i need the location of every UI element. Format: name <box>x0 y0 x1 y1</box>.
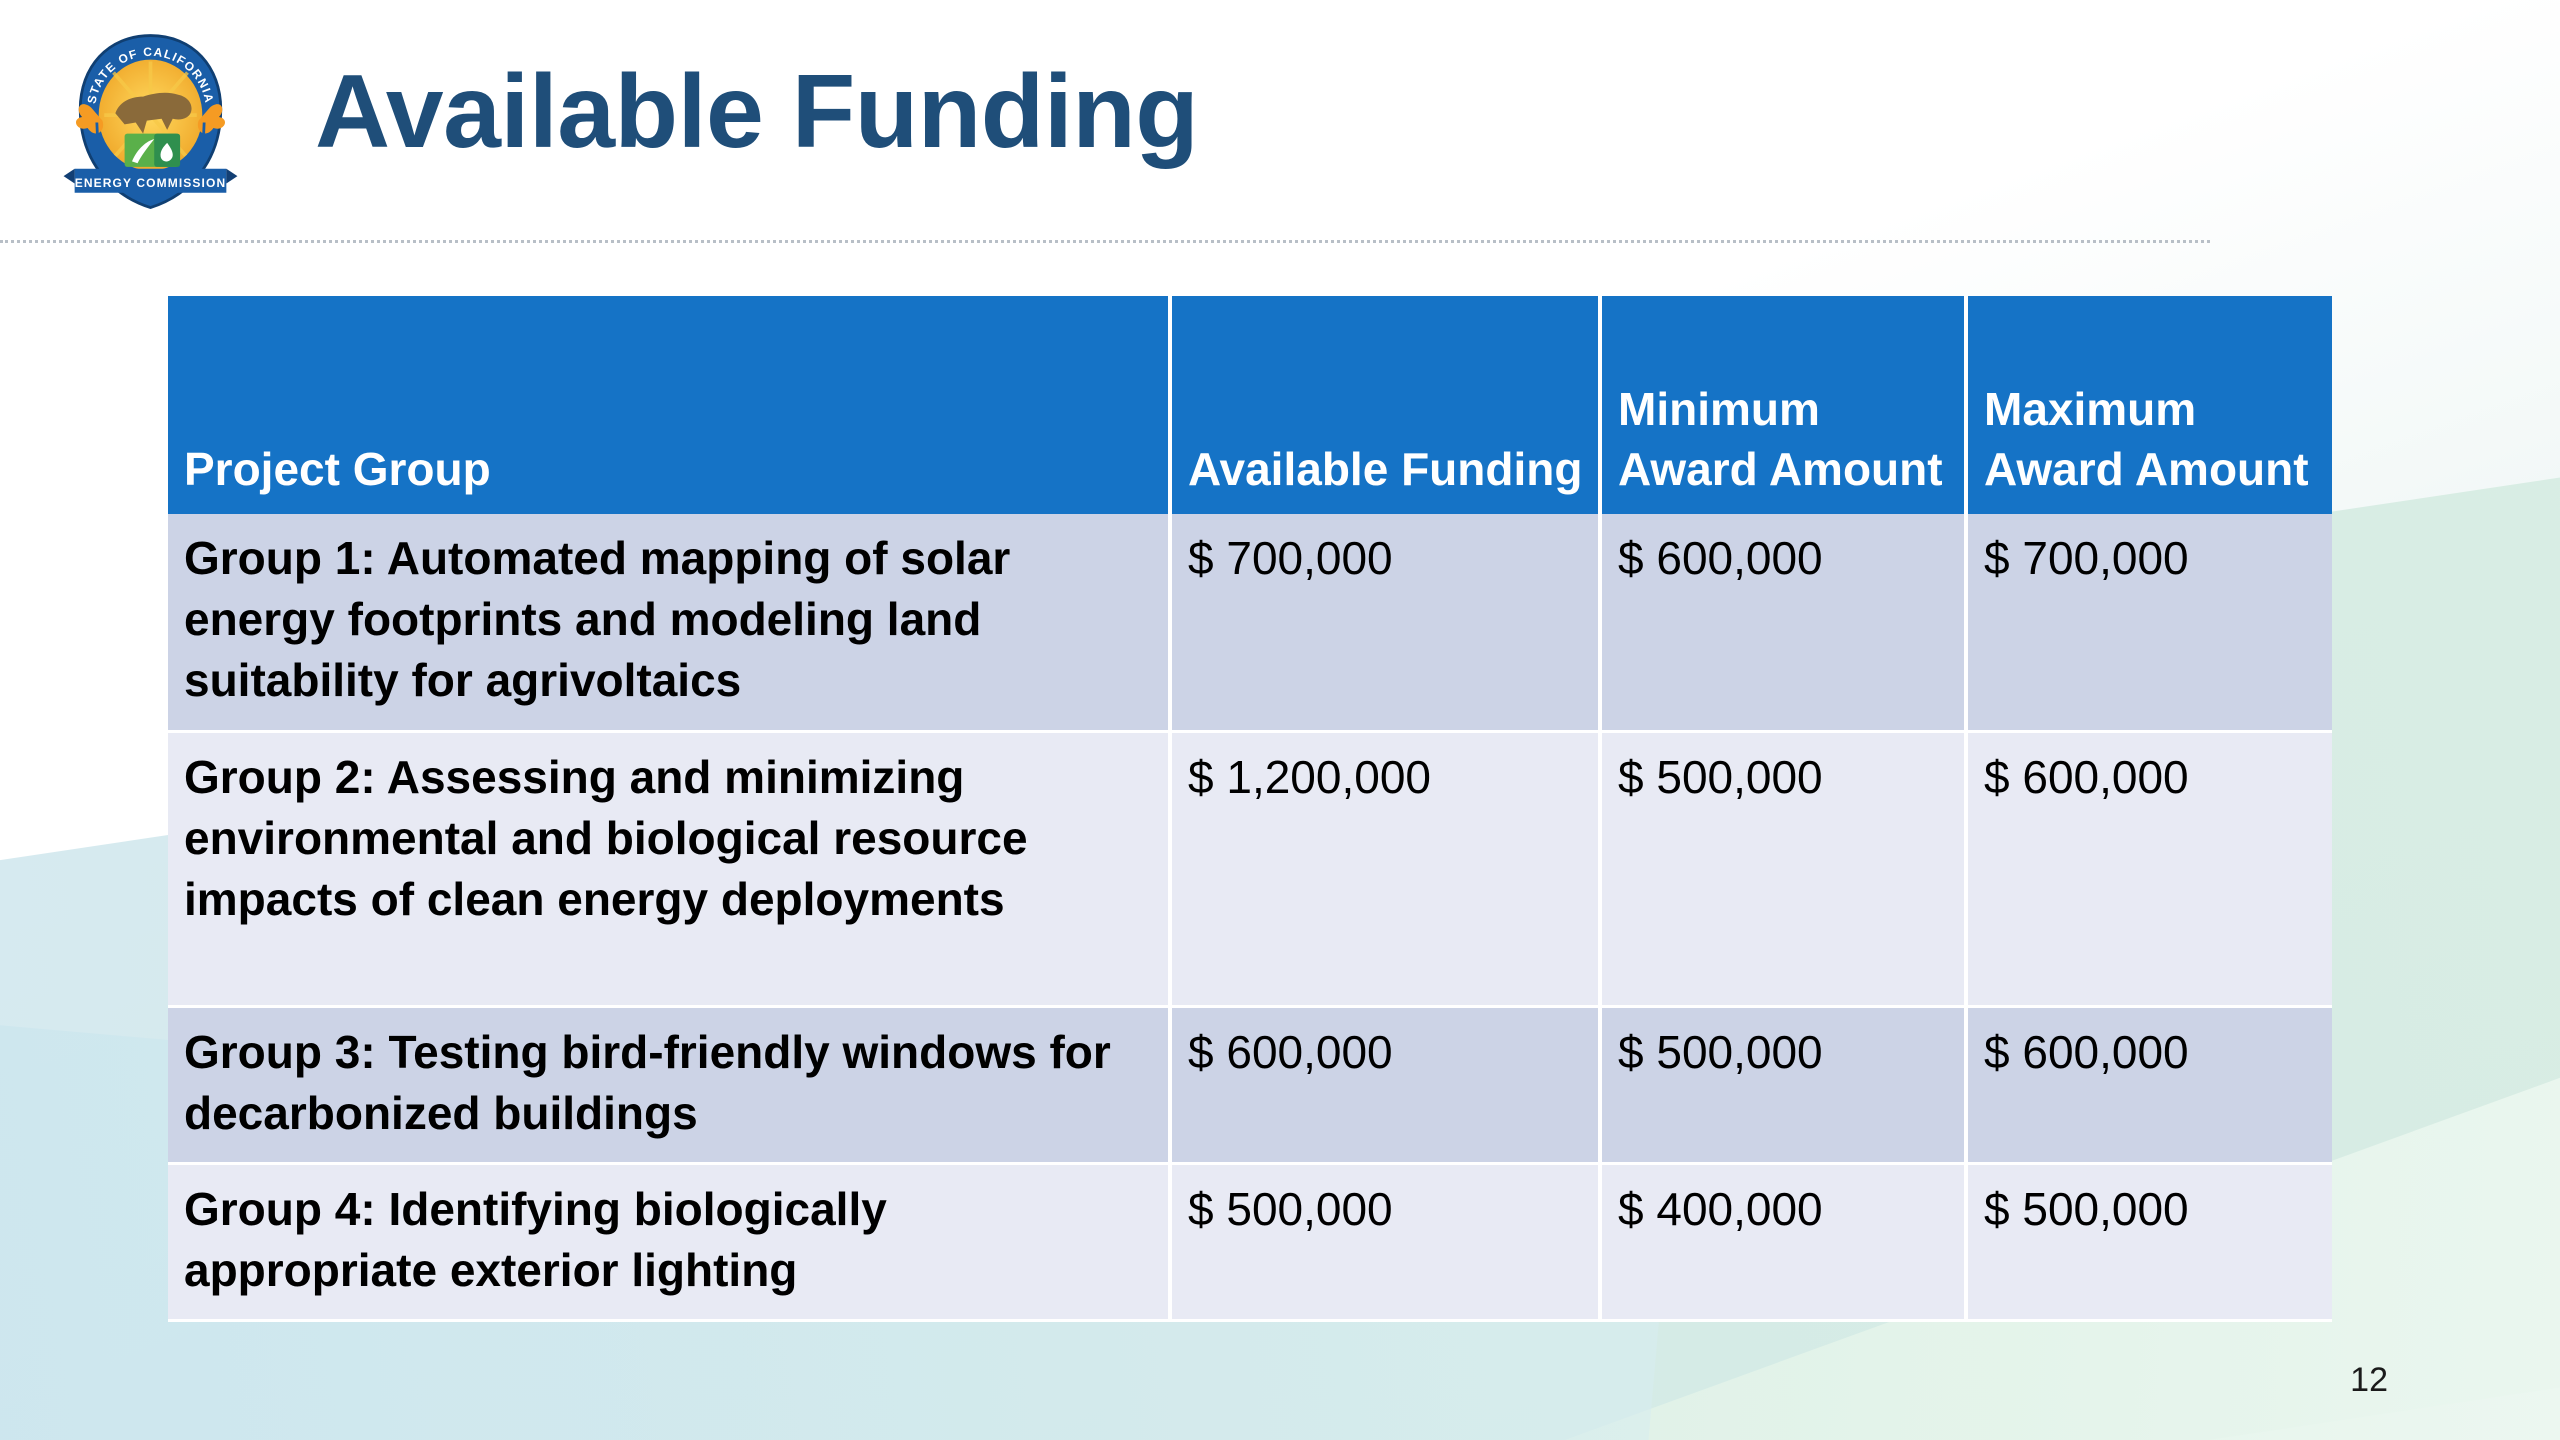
cell-maximum-award: $ 600,000 <box>1966 731 2332 1006</box>
table-row: Group 4: Identifying biologically approp… <box>168 1163 2332 1320</box>
title-divider <box>0 240 2210 243</box>
table-row: Group 2: Assessing and minimizing enviro… <box>168 731 2332 1006</box>
column-header-minimum-award: Minimum Award Amount <box>1600 296 1966 514</box>
available-funding-table: Project Group Available Funding Minimum … <box>168 296 2332 1322</box>
cell-available-funding: $ 600,000 <box>1170 1006 1600 1163</box>
california-energy-commission-logo-icon: ENERGY COMMISSION STATE OF CALIFORNIA <box>58 30 243 215</box>
cell-maximum-award: $ 600,000 <box>1966 1006 2332 1163</box>
table-row: Group 3: Testing bird-friendly windows f… <box>168 1006 2332 1163</box>
cell-available-funding: $ 1,200,000 <box>1170 731 1600 1006</box>
cell-project-group: Group 2: Assessing and minimizing enviro… <box>168 731 1170 1006</box>
cell-minimum-award: $ 500,000 <box>1600 731 1966 1006</box>
cell-available-funding: $ 500,000 <box>1170 1163 1600 1320</box>
cell-minimum-award: $ 400,000 <box>1600 1163 1966 1320</box>
cell-available-funding: $ 700,000 <box>1170 514 1600 731</box>
column-header-project-group: Project Group <box>168 296 1170 514</box>
slide: ENERGY COMMISSION STATE OF CALIFORNIA Av… <box>0 0 2560 1440</box>
svg-text:ENERGY COMMISSION: ENERGY COMMISSION <box>75 176 227 190</box>
cell-minimum-award: $ 500,000 <box>1600 1006 1966 1163</box>
cell-maximum-award: $ 500,000 <box>1966 1163 2332 1320</box>
cell-project-group: Group 1: Automated mapping of solar ener… <box>168 514 1170 731</box>
table-row: Group 1: Automated mapping of solar ener… <box>168 514 2332 731</box>
cell-project-group: Group 3: Testing bird-friendly windows f… <box>168 1006 1170 1163</box>
page-title: Available Funding <box>315 55 1198 169</box>
slide-header: ENERGY COMMISSION STATE OF CALIFORNIA Av… <box>0 0 2560 243</box>
table-header: Project Group Available Funding Minimum … <box>168 296 2332 514</box>
column-header-available-funding: Available Funding <box>1170 296 1600 514</box>
cell-maximum-award: $ 700,000 <box>1966 514 2332 731</box>
column-header-maximum-award: Maximum Award Amount <box>1966 296 2332 514</box>
page-number: 12 <box>2350 1361 2388 1400</box>
table-body: Group 1: Automated mapping of solar ener… <box>168 514 2332 1321</box>
table-header-row: Project Group Available Funding Minimum … <box>168 296 2332 514</box>
cell-project-group: Group 4: Identifying biologically approp… <box>168 1163 1170 1320</box>
cell-minimum-award: $ 600,000 <box>1600 514 1966 731</box>
